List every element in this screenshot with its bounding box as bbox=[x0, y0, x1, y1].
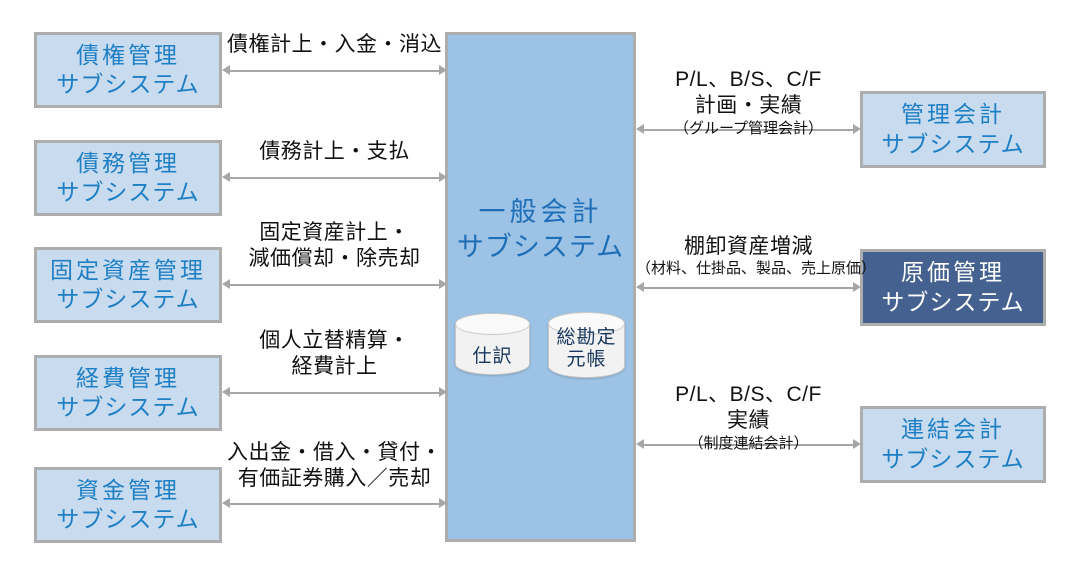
node-cost-management[interactable]: 原価管理 サブシステム bbox=[860, 249, 1046, 326]
edge-label-line2: 計画・実績 bbox=[636, 93, 861, 119]
datastore-journal-line1: 仕訳 bbox=[456, 346, 529, 368]
arrow-shaft bbox=[228, 392, 441, 394]
edge-label-cost: 棚卸資産増減 （材料、仕掛品、製品、売上原価） bbox=[636, 234, 861, 279]
node-label-line2: サブシステム bbox=[881, 288, 1024, 317]
arrow-treasury bbox=[222, 498, 447, 509]
node-general-accounting[interactable]: 一般会計 サブシステム bbox=[445, 32, 636, 542]
edge-label-note: （材料、仕掛品、製品、売上原価） bbox=[636, 260, 861, 279]
node-label-line1: 管理会計 bbox=[901, 100, 1005, 129]
edge-label-line1: 棚卸資産増減 bbox=[636, 234, 861, 260]
edge-label-treasury: 入出金・借入・貸付・ 有価証券購入／売却 bbox=[222, 440, 447, 493]
node-managerial-accounting[interactable]: 管理会計 サブシステム bbox=[860, 91, 1046, 168]
edge-label-fixed-assets: 固定資産計上・ 減価償却・除売却 bbox=[222, 220, 447, 273]
arrowhead-right-icon bbox=[439, 65, 447, 75]
edge-label-line2: 経費計上 bbox=[222, 354, 447, 380]
node-label-line1: 原価管理 bbox=[901, 258, 1005, 287]
edge-label-line1: 入出金・借入・貸付・ bbox=[222, 440, 447, 466]
edge-label-line1: P/L、B/S、C/F bbox=[636, 382, 861, 408]
node-label-line1: 一般会計 bbox=[479, 195, 603, 230]
arrow-fixed-assets bbox=[222, 279, 447, 290]
node-receivables-management[interactable]: 債権管理 サブシステム bbox=[34, 32, 222, 108]
edge-label-managerial: P/L、B/S、C/F 計画・実績 （グループ管理会計） bbox=[636, 67, 861, 139]
node-payables-management[interactable]: 債務管理 サブシステム bbox=[34, 140, 222, 216]
arrow-expenses bbox=[222, 387, 447, 398]
node-label-line1: 連結会計 bbox=[901, 415, 1005, 444]
edge-label-line1: 債務計上・支払 bbox=[222, 139, 447, 165]
datastore-general-ledger-label: 総勘定 元帳 bbox=[549, 327, 624, 377]
edge-label-line2: 減価償却・除売却 bbox=[222, 246, 447, 272]
arrow-shaft bbox=[228, 284, 441, 286]
edge-label-receivables: 債権計上・入金・消込 bbox=[222, 32, 447, 58]
node-label-line2: サブシステム bbox=[56, 285, 199, 314]
datastore-journal-label: 仕訳 bbox=[456, 346, 529, 374]
node-label-line1: 債権管理 bbox=[76, 41, 180, 70]
arrowhead-right-icon bbox=[439, 387, 447, 397]
arrow-receivables bbox=[222, 65, 447, 76]
node-treasury-management[interactable]: 資金管理 サブシステム bbox=[34, 467, 222, 543]
node-label-line2: サブシステム bbox=[56, 393, 199, 422]
node-label-line2: サブシステム bbox=[881, 130, 1024, 159]
accounting-system-diagram: 債権管理 サブシステム 債務管理 サブシステム 固定資産管理 サブシステム 経費… bbox=[0, 0, 1080, 580]
node-label-line1: 固定資産管理 bbox=[50, 256, 206, 285]
node-expense-management[interactable]: 経費管理 サブシステム bbox=[34, 355, 222, 431]
edge-label-line1: P/L、B/S、C/F bbox=[636, 67, 861, 93]
node-label-line2: サブシステム bbox=[881, 445, 1024, 474]
edge-label-line1: 個人立替精算・ bbox=[222, 328, 447, 354]
arrow-cost bbox=[636, 282, 861, 293]
arrow-shaft bbox=[228, 177, 441, 179]
node-label-line2: サブシステム bbox=[56, 178, 199, 207]
arrowhead-right-icon bbox=[853, 282, 861, 292]
arrow-shaft bbox=[228, 70, 441, 72]
node-fixed-asset-management[interactable]: 固定資産管理 サブシステム bbox=[34, 247, 222, 323]
edge-label-expenses: 個人立替精算・ 経費計上 bbox=[222, 328, 447, 381]
arrowhead-right-icon bbox=[439, 498, 447, 508]
node-label-line2: サブシステム bbox=[56, 70, 199, 99]
datastore-general-ledger-line2: 元帳 bbox=[549, 349, 624, 371]
datastore-general-ledger[interactable]: 総勘定 元帳 bbox=[548, 312, 625, 378]
arrow-shaft bbox=[642, 287, 855, 289]
node-label-line1: 資金管理 bbox=[76, 476, 180, 505]
edge-label-note: （制度連結会計） bbox=[636, 435, 861, 454]
node-consolidated-accounting[interactable]: 連結会計 サブシステム bbox=[860, 406, 1046, 483]
node-label-line1: 債務管理 bbox=[76, 149, 180, 178]
datastore-journal[interactable]: 仕訳 bbox=[455, 313, 530, 375]
arrow-payables bbox=[222, 172, 447, 183]
edge-label-note: （グループ管理会計） bbox=[636, 120, 861, 139]
arrowhead-right-icon bbox=[439, 172, 447, 182]
edge-label-consolidated: P/L、B/S、C/F 実績 （制度連結会計） bbox=[636, 382, 861, 454]
node-label-line2: サブシステム bbox=[457, 230, 624, 265]
arrowhead-right-icon bbox=[439, 279, 447, 289]
node-label-line1: 経費管理 bbox=[76, 364, 180, 393]
node-label-line2: サブシステム bbox=[56, 505, 199, 534]
datastore-general-ledger-line1: 総勘定 bbox=[549, 327, 624, 349]
edge-label-line2: 有価証券購入／売却 bbox=[222, 466, 447, 492]
edge-label-line1: 債権計上・入金・消込 bbox=[222, 32, 447, 58]
edge-label-line1: 固定資産計上・ bbox=[222, 220, 447, 246]
arrow-shaft bbox=[228, 503, 441, 505]
edge-label-payables: 債務計上・支払 bbox=[222, 139, 447, 165]
edge-label-line2: 実績 bbox=[636, 408, 861, 434]
